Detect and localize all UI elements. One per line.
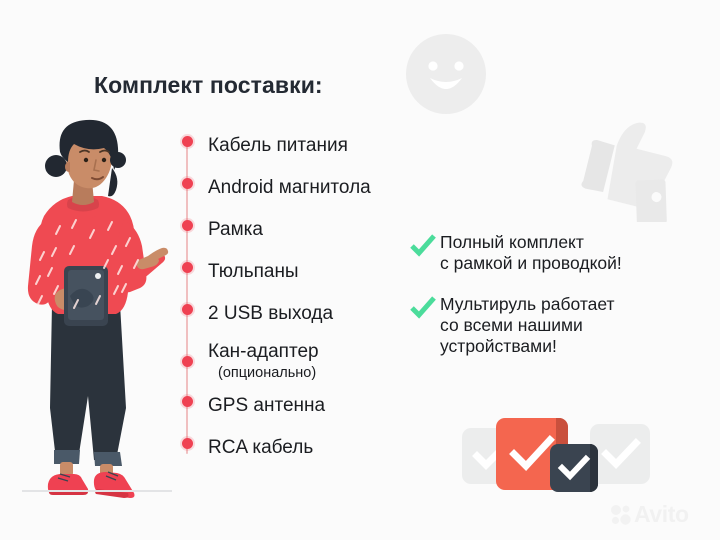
checkbox-cluster [462, 416, 644, 492]
woman-pointing-illustration [8, 108, 178, 508]
bullet-dot [182, 220, 193, 231]
bullet-dot [182, 356, 193, 367]
bullet-dot [182, 304, 193, 315]
benefit-item: Мультируль работает со всеми нашими устр… [408, 294, 615, 357]
list-item-label: 2 USB выхода [208, 304, 333, 323]
bullet-dot [182, 136, 193, 147]
avito-watermark: Avito [610, 503, 689, 526]
list-item-label: Кабель питания [208, 136, 348, 155]
avito-watermark-text: Avito [634, 503, 689, 526]
list-item-sublabel: (опционально) [218, 366, 316, 381]
benefit-label: Мультируль работает со всеми нашими устр… [440, 294, 615, 357]
promo-card: Комплект поставки: Кабель питания Androi… [0, 0, 720, 540]
checkbox-navy [550, 444, 598, 492]
list-item-label: Рамка [208, 220, 263, 239]
smiley-face-icon [404, 32, 488, 116]
page-title: Комплект поставки: [94, 72, 323, 99]
list-item-label: Тюльпаны [208, 262, 299, 281]
bullet-dot [182, 262, 193, 273]
thumbs-up-icon [572, 112, 690, 222]
bullet-dot [182, 396, 193, 407]
check-icon [408, 231, 438, 261]
list-item-label: RCA кабель [208, 438, 313, 457]
list-spine-line [186, 146, 188, 454]
list-item-label: GPS антенна [208, 396, 325, 415]
benefit-item: Полный комплект с рамкой и проводкой! [408, 232, 622, 274]
check-icon [408, 293, 438, 323]
benefit-label: Полный комплект с рамкой и проводкой! [440, 232, 622, 274]
checkbox-gray-right [590, 424, 650, 484]
bullet-dot [182, 438, 193, 449]
ground-line [22, 490, 172, 492]
list-item-label: Кан-адаптер [208, 342, 319, 361]
list-item-label: Android магнитола [208, 178, 371, 197]
bullet-dot [182, 178, 193, 189]
avito-logo-icon [610, 504, 632, 526]
